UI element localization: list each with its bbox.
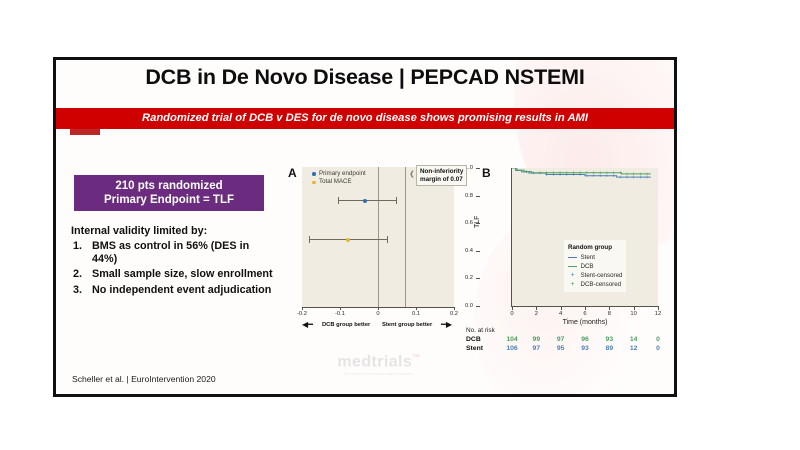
km-x-tick xyxy=(634,307,635,310)
km-legend-label: Stent-censored xyxy=(581,271,623,280)
km-series-line xyxy=(512,168,651,174)
km-censor-mark xyxy=(632,173,635,176)
risk-table-cell: 14 xyxy=(630,336,638,343)
forest-legend-label: Primary endpoint xyxy=(319,170,366,178)
km-censor-mark xyxy=(552,171,555,174)
km-y-tick: 0.6 xyxy=(476,223,480,224)
km-x-tick xyxy=(609,307,610,310)
legend-line-icon xyxy=(568,257,577,259)
km-censor-mark xyxy=(646,176,649,179)
km-y-tick: 0.4 xyxy=(476,251,480,252)
forest-point-estimate xyxy=(346,238,350,242)
right-arrow-icon: ━▶ xyxy=(441,321,452,329)
forest-legend-item: Primary endpoint xyxy=(312,170,366,178)
forest-x-tick xyxy=(454,307,455,310)
limitation-item: 3.No independent event adjudication xyxy=(71,284,276,297)
km-censor-mark xyxy=(612,174,615,177)
limitation-item: 2.Small sample size, slow enrollment xyxy=(71,268,276,281)
page-title: DCB in De Novo Disease | PEPCAD NSTEMI xyxy=(56,65,674,90)
km-censor-mark xyxy=(619,176,622,179)
km-censor-mark xyxy=(626,176,629,179)
forest-x-tick xyxy=(416,307,417,310)
limitation-item: 1.BMS as control in 56% (DES in 44%) xyxy=(71,240,276,266)
km-censor-mark xyxy=(592,174,595,177)
risk-table-cell: 99 xyxy=(533,336,541,343)
km-x-tick xyxy=(512,307,513,310)
km-y-tick-label: 0.8 xyxy=(465,193,473,199)
km-censor-mark xyxy=(606,171,609,174)
km-x-tick-label: 2 xyxy=(535,311,538,317)
subtitle-text: Randomized trial of DCB v DES for de nov… xyxy=(56,108,674,129)
forest-plot-area xyxy=(302,167,454,307)
forest-x-tick-label: 0 xyxy=(376,311,379,317)
panel-b-letter: B xyxy=(482,166,491,180)
banner-accent-tab xyxy=(70,129,100,135)
legend-plus-icon: + xyxy=(568,281,577,288)
forest-x-tick-label: 0.2 xyxy=(450,311,458,317)
limitation-text: BMS as control in 56% (DES in 44%) xyxy=(92,240,249,265)
study-callout-box: 210 pts randomized Primary Endpoint = TL… xyxy=(74,175,264,211)
km-legend-label: Stent xyxy=(581,253,595,262)
forest-x-tick xyxy=(302,307,303,310)
km-x-tick xyxy=(585,307,586,310)
km-y-tick-label: 0.4 xyxy=(465,248,473,254)
forest-ci-cap-low xyxy=(338,197,339,204)
forest-x-tick-label: -0.2 xyxy=(297,311,307,317)
risk-table-cell: 97 xyxy=(557,336,565,343)
figure-container: A Primary endpointTotal MACE ❰ Non-infer… xyxy=(268,160,672,375)
panel-a-letter: A xyxy=(288,166,297,180)
forest-null-line xyxy=(378,167,379,307)
forest-x-tick-label: 0.1 xyxy=(412,311,420,317)
limitation-number: 2. xyxy=(73,268,82,281)
legend-dot-icon xyxy=(312,181,316,185)
km-legend-label: DCB xyxy=(581,262,594,271)
non-inferiority-pointer-icon: ❰ xyxy=(409,170,415,178)
risk-table-cell: 93 xyxy=(581,345,589,352)
slide-frame: DCB in De Novo Disease | PEPCAD NSTEMI R… xyxy=(53,57,677,397)
forest-ci-cap-high xyxy=(396,197,397,204)
forest-x-tick-label: -0.1 xyxy=(335,311,345,317)
risk-table-cell: 93 xyxy=(606,336,614,343)
km-censor-mark xyxy=(646,173,649,176)
forest-legend-item: Total MACE xyxy=(312,178,366,186)
risk-table-row: Stent10697959389120 xyxy=(466,345,672,354)
km-x-tick-label: 10 xyxy=(630,311,636,317)
km-censor-mark xyxy=(579,171,582,174)
forest-ci-cap-high xyxy=(387,236,388,243)
forest-ci-row xyxy=(338,200,396,201)
km-censor-mark xyxy=(639,173,642,176)
km-censor-mark xyxy=(599,171,602,174)
forest-margin-line xyxy=(405,167,406,307)
legend-plus-icon: + xyxy=(568,272,577,279)
legend-line-icon xyxy=(568,266,577,268)
limitations-block: Internal validity limited by: 1.BMS as c… xyxy=(71,225,276,299)
forest-direction-labels: ◀━DCB group betterStent group better━▶ xyxy=(296,321,462,331)
km-censor-mark xyxy=(572,171,575,174)
km-censor-mark xyxy=(606,174,609,177)
callout-line-2: Primary Endpoint = TLF xyxy=(104,193,234,207)
risk-table-cell: 106 xyxy=(506,345,517,352)
ni-annotation-line-1: Non-inferiority xyxy=(420,168,463,176)
km-y-axis-title: TLF xyxy=(474,216,481,228)
km-x-tick xyxy=(658,307,659,310)
km-legend: Random groupStentDCB+Stent-censored+DCB-… xyxy=(564,240,626,292)
km-y-tick-label: 0.2 xyxy=(465,275,473,281)
km-x-tick-label: 6 xyxy=(583,311,586,317)
forest-right-direction-label: Stent group better xyxy=(382,322,432,328)
risk-table-cell: 12 xyxy=(630,345,638,352)
forest-legend-label: Total MACE xyxy=(319,178,352,186)
km-censor-mark xyxy=(632,176,635,179)
km-x-tick-label: 4 xyxy=(559,311,562,317)
risk-table-cell: 0 xyxy=(656,336,660,343)
forest-ci-row xyxy=(309,239,388,240)
risk-table-cell: 96 xyxy=(581,336,589,343)
km-censor-mark xyxy=(599,174,602,177)
km-y-tick: 0.2 xyxy=(476,278,480,279)
callout-line-1: 210 pts randomized xyxy=(115,179,222,193)
slide-screenshot: DCB in De Novo Disease | PEPCAD NSTEMI R… xyxy=(0,0,800,450)
citation-footer: Scheller et al. | EuroIntervention 2020 xyxy=(72,374,216,384)
risk-table-cell: 104 xyxy=(506,336,517,343)
forest-left-direction-label: DCB group better xyxy=(322,322,370,328)
km-censor-mark xyxy=(612,171,615,174)
km-legend-item: +Stent-censored xyxy=(568,271,622,280)
km-censor-mark xyxy=(586,174,589,177)
forest-legend: Primary endpointTotal MACE xyxy=(312,170,366,187)
legend-dot-icon xyxy=(312,172,316,176)
limitation-number: 1. xyxy=(73,240,82,253)
risk-row-label: DCB xyxy=(466,336,481,343)
left-arrow-icon: ◀━ xyxy=(302,321,313,329)
km-y-tick: 0.8 xyxy=(476,196,480,197)
limitation-text: Small sample size, slow enrollment xyxy=(92,268,273,280)
risk-table-row: DCB10499979693140 xyxy=(466,336,672,345)
km-y-tick-label: 0.6 xyxy=(465,220,473,226)
risk-table-cell: 0 xyxy=(656,345,660,352)
km-x-tick-label: 8 xyxy=(608,311,611,317)
km-y-tick: 0.0 xyxy=(476,306,480,307)
limitations-list: 1.BMS as control in 56% (DES in 44%)2.Sm… xyxy=(71,240,276,297)
km-y-tick: 1.0 xyxy=(476,168,480,169)
subtitle-banner: Randomized trial of DCB v DES for de nov… xyxy=(56,108,674,129)
forest-plot-panel: A Primary endpointTotal MACE ❰ Non-infer… xyxy=(288,162,464,362)
limitation-number: 3. xyxy=(73,284,82,297)
km-y-tick-label: 0.0 xyxy=(465,303,473,309)
forest-x-tick xyxy=(340,307,341,310)
forest-x-axis: -0.2-0.100.10.2 xyxy=(302,307,454,308)
km-censor-mark xyxy=(565,171,568,174)
forest-x-tick xyxy=(378,307,379,310)
ni-annotation-line-2: margin of 0.07 xyxy=(420,176,463,184)
non-inferiority-annotation: Non-inferioritymargin of 0.07 xyxy=(416,165,467,186)
limitations-heading: Internal validity limited by: xyxy=(71,225,276,237)
km-legend-title: Random group xyxy=(568,243,622,252)
km-x-tick xyxy=(536,307,537,310)
km-x-tick-label: 12 xyxy=(655,311,661,317)
km-x-tick xyxy=(561,307,562,310)
limitation-text: No independent event adjudication xyxy=(92,284,271,296)
km-censor-mark xyxy=(639,176,642,179)
risk-table-cell: 89 xyxy=(606,345,614,352)
km-x-tick-label: 0 xyxy=(510,311,513,317)
risk-table-cell: 97 xyxy=(533,345,541,352)
km-x-axis-title: Time (months) xyxy=(511,319,659,326)
km-legend-item: DCB xyxy=(568,262,622,271)
km-legend-item: Stent xyxy=(568,253,622,262)
km-legend-label: DCB-censored xyxy=(581,280,622,289)
km-censor-mark xyxy=(626,173,629,176)
risk-row-label: Stent xyxy=(466,345,483,352)
km-legend-item: +DCB-censored xyxy=(568,280,622,289)
km-censor-mark xyxy=(559,171,562,174)
km-censor-mark xyxy=(586,171,589,174)
km-censor-mark xyxy=(592,171,595,174)
km-y-axis xyxy=(511,168,512,307)
risk-table-header: No. at risk xyxy=(466,327,495,334)
risk-table-cell: 95 xyxy=(557,345,565,352)
forest-ci-line xyxy=(338,200,396,201)
forest-ci-cap-low xyxy=(309,236,310,243)
